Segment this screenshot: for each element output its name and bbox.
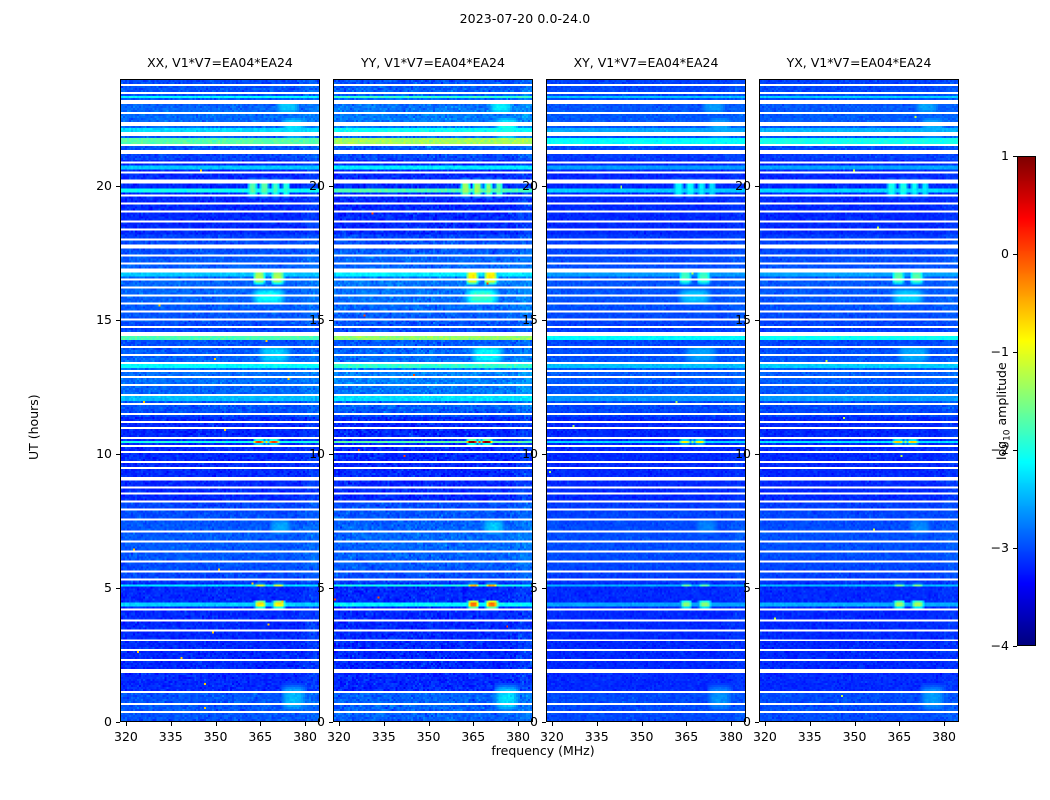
colorbar-tick-mark (1013, 156, 1017, 157)
spectrum-image-xx (121, 80, 319, 721)
y-tick-label: 10 (707, 446, 751, 461)
y-tick-label: 0 (281, 714, 325, 729)
x-tick-mark (384, 722, 385, 726)
y-tick-mark (755, 722, 759, 723)
x-axis-label: frequency (MHz) (333, 743, 753, 758)
colorbar-tick-label: 0 (967, 246, 1009, 261)
y-tick-mark (116, 454, 120, 455)
y-tick-label: 15 (494, 312, 538, 327)
spectrum-image-yx (760, 80, 958, 721)
panel-title-yx: YX, V1*V7=EA04*EA24 (759, 55, 959, 70)
y-tick-label: 0 (707, 714, 751, 729)
colorbar-label-main: log (994, 441, 1009, 460)
y-tick-label: 15 (281, 312, 325, 327)
x-tick-label: 335 (785, 729, 835, 744)
x-tick-label: 320 (527, 729, 577, 744)
x-tick-label: 350 (617, 729, 667, 744)
y-tick-mark (755, 320, 759, 321)
x-tick-label: 320 (101, 729, 151, 744)
y-tick-label: 10 (281, 446, 325, 461)
y-tick-label: 15 (707, 312, 751, 327)
x-tick-mark (260, 722, 261, 726)
colorbar-gradient (1018, 157, 1035, 645)
dynamic-spectrum-yx[interactable] (759, 79, 959, 722)
colorbar (1017, 156, 1036, 646)
x-tick-label: 335 (146, 729, 196, 744)
x-tick-label: 365 (874, 729, 924, 744)
y-tick-mark (542, 186, 546, 187)
spectrum-image-yy (334, 80, 532, 721)
figure-suptitle: 2023-07-20 0.0-24.0 (0, 11, 1050, 26)
x-tick-label: 320 (314, 729, 364, 744)
x-tick-mark (899, 722, 900, 726)
y-tick-mark (329, 722, 333, 723)
y-tick-mark (329, 588, 333, 589)
y-tick-mark (329, 454, 333, 455)
x-tick-mark (810, 722, 811, 726)
colorbar-tick-label: −4 (967, 638, 1009, 653)
panel-title-yy: YY, V1*V7=EA04*EA24 (333, 55, 533, 70)
y-axis-label: UT (hours) (26, 394, 41, 460)
y-tick-mark (116, 588, 120, 589)
colorbar-tick-mark (1013, 450, 1017, 451)
colorbar-tick-mark (1013, 352, 1017, 353)
x-tick-label: 365 (235, 729, 285, 744)
panel-title-xx: XX, V1*V7=EA04*EA24 (120, 55, 320, 70)
x-tick-label: 365 (448, 729, 498, 744)
y-tick-mark (116, 320, 120, 321)
colorbar-tick-label: 1 (967, 148, 1009, 163)
y-tick-mark (755, 454, 759, 455)
y-tick-mark (755, 588, 759, 589)
y-tick-label: 10 (494, 446, 538, 461)
y-tick-mark (329, 186, 333, 187)
y-tick-mark (542, 722, 546, 723)
x-tick-label: 335 (359, 729, 409, 744)
x-tick-label: 320 (740, 729, 790, 744)
panel-title-xy: XY, V1*V7=EA04*EA24 (546, 55, 746, 70)
colorbar-label-tail: amplitude (994, 362, 1009, 429)
colorbar-tick-label: −3 (967, 540, 1009, 555)
x-tick-label: 350 (404, 729, 454, 744)
colorbar-tick-label: −1 (967, 344, 1009, 359)
x-tick-label: 350 (191, 729, 241, 744)
y-tick-label: 5 (68, 580, 112, 595)
y-tick-mark (755, 186, 759, 187)
x-tick-mark (339, 722, 340, 726)
x-tick-label: 335 (572, 729, 622, 744)
x-tick-mark (855, 722, 856, 726)
y-tick-label: 20 (281, 178, 325, 193)
colorbar-tick-mark (1013, 254, 1017, 255)
y-tick-label: 5 (707, 580, 751, 595)
x-tick-label: 365 (661, 729, 711, 744)
y-tick-mark (542, 320, 546, 321)
y-tick-label: 0 (68, 714, 112, 729)
x-tick-label: 350 (830, 729, 880, 744)
x-tick-mark (944, 722, 945, 726)
colorbar-axis-label: log10 amplitude (994, 362, 1013, 460)
spectrum-image-xy (547, 80, 745, 721)
y-tick-label: 20 (68, 178, 112, 193)
x-tick-mark (473, 722, 474, 726)
x-tick-mark (216, 722, 217, 726)
y-tick-label: 0 (494, 714, 538, 729)
y-tick-label: 10 (68, 446, 112, 461)
y-tick-mark (329, 320, 333, 321)
colorbar-label-sub: 10 (1003, 429, 1013, 440)
dynamic-spectrum-yy[interactable] (333, 79, 533, 722)
colorbar-tick-mark (1013, 548, 1017, 549)
colorbar-tick-mark (1013, 646, 1017, 647)
y-tick-mark (116, 186, 120, 187)
x-tick-mark (686, 722, 687, 726)
x-tick-mark (765, 722, 766, 726)
x-tick-mark (642, 722, 643, 726)
y-tick-label: 20 (707, 178, 751, 193)
dynamic-spectrum-xx[interactable] (120, 79, 320, 722)
x-tick-mark (171, 722, 172, 726)
y-tick-label: 15 (68, 312, 112, 327)
figure-canvas: 2023-07-20 0.0-24.0 XX, V1*V7=EA04*EA243… (0, 0, 1050, 800)
x-tick-label: 380 (919, 729, 969, 744)
x-tick-mark (597, 722, 598, 726)
dynamic-spectrum-xy[interactable] (546, 79, 746, 722)
x-tick-mark (429, 722, 430, 726)
y-tick-mark (542, 454, 546, 455)
y-tick-label: 5 (494, 580, 538, 595)
x-tick-mark (552, 722, 553, 726)
y-tick-mark (116, 722, 120, 723)
y-tick-mark (542, 588, 546, 589)
y-tick-label: 20 (494, 178, 538, 193)
x-tick-mark (126, 722, 127, 726)
y-tick-label: 5 (281, 580, 325, 595)
